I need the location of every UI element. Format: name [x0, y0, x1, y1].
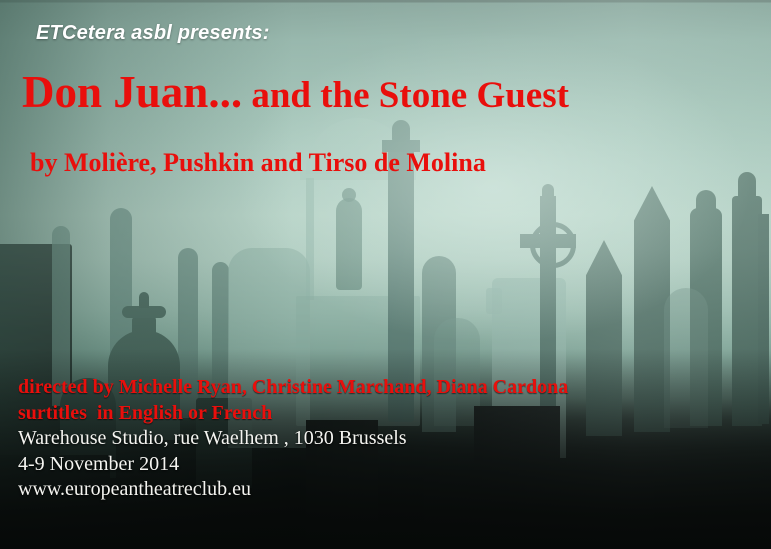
dates-line: 4-9 November 2014 — [18, 452, 758, 478]
credits-block: directed by Michelle Ryan, Christine Mar… — [18, 375, 758, 503]
page-title: Don Juan... and the Stone Guest — [22, 70, 569, 115]
title-main: Don Juan... — [22, 67, 242, 117]
venue-line: Warehouse Studio, rue Waelhem , 1030 Bru… — [18, 426, 758, 452]
surtitles-line: surtitles in English or French — [18, 401, 758, 427]
theatre-poster: ETCetera asbl presents: Don Juan... and … — [0, 0, 771, 549]
website-line[interactable]: www.europeantheatreclub.eu — [18, 477, 758, 503]
title-subtitle: and the Stone Guest — [242, 75, 569, 116]
authors-line: by Molière, Pushkin and Tirso de Molina — [30, 148, 486, 178]
presenter-line: ETCetera asbl presents: — [36, 22, 270, 45]
directed-by-line: directed by Michelle Ryan, Christine Mar… — [18, 375, 758, 401]
